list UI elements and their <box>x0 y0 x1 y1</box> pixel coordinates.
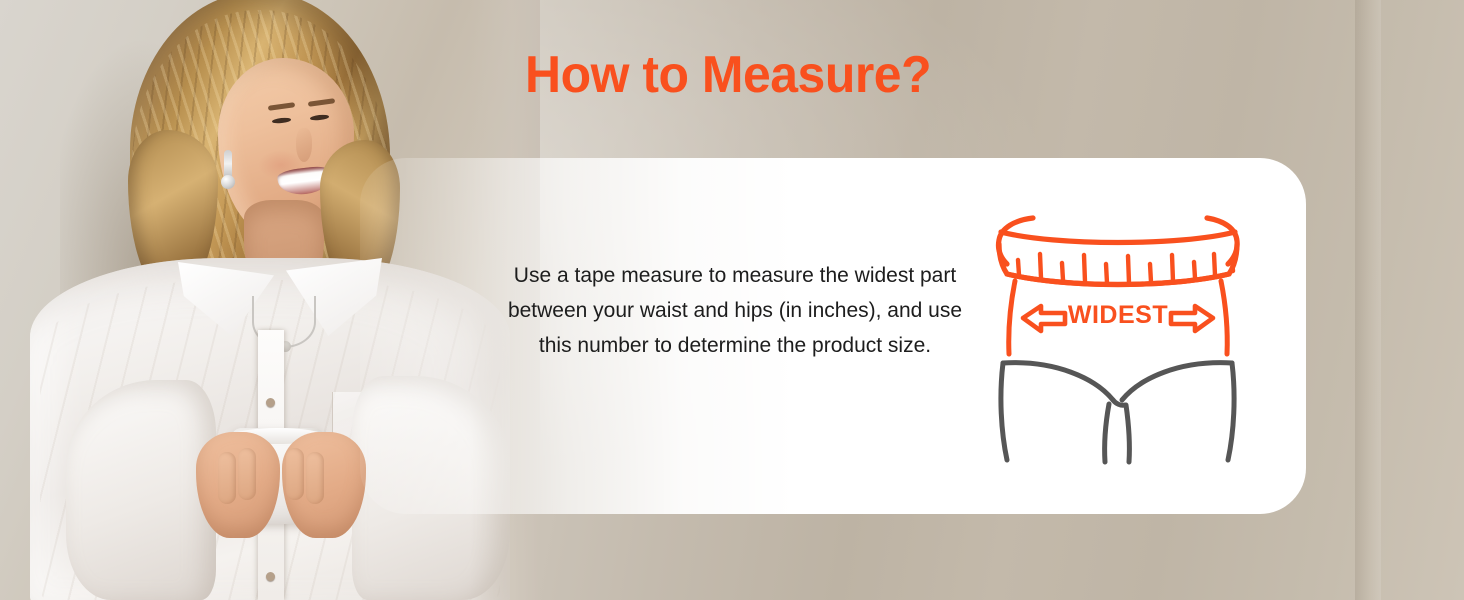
tape-end-right <box>1207 218 1237 264</box>
left-arrow-icon <box>1023 306 1065 331</box>
tape-end-left <box>998 218 1033 264</box>
right-arrow-icon <box>1171 306 1213 331</box>
tape-top-edge <box>1001 232 1235 243</box>
model-finger <box>306 452 324 504</box>
model-finger <box>218 452 236 504</box>
widest-label: WIDEST <box>1063 301 1173 330</box>
model-nose <box>296 128 312 162</box>
background-wall-corner <box>1355 0 1381 600</box>
model-earring <box>224 150 232 180</box>
how-to-measure-banner: How to Measure? Use a tape measure to me… <box>0 0 1464 600</box>
measurement-illustration <box>985 196 1250 466</box>
brief-outline <box>1001 363 1234 462</box>
model-arm-left <box>66 380 216 600</box>
shirt-button <box>266 572 275 581</box>
model-finger <box>286 448 304 500</box>
page-title: How to Measure? <box>525 44 928 106</box>
shirt-button <box>266 398 275 407</box>
instructions-text: Use a tape measure to measure the widest… <box>505 258 965 363</box>
model-finger <box>238 448 256 500</box>
